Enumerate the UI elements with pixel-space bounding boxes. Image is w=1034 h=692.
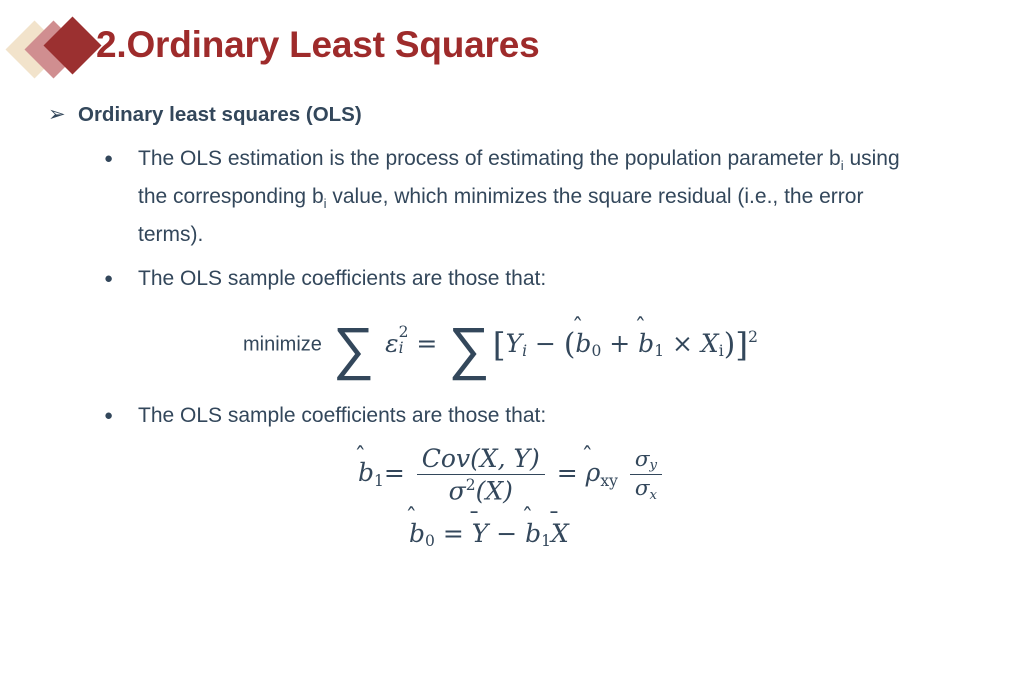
b1-index: 1 (374, 472, 384, 490)
bracket-open: [ (493, 325, 506, 364)
sigma-x-index: x (650, 488, 658, 503)
covariance-fraction: Cov(X, Y) σ2(X) (417, 444, 545, 506)
Y-symbol: Y (472, 519, 489, 548)
sigma-ratio-fraction: σy σx (630, 447, 662, 503)
ols-estimation-text: The OLS estimation is the process of est… (138, 140, 928, 254)
b1-index: 1 (654, 342, 664, 360)
epsilon-index: i (399, 341, 409, 357)
rho-symbol: ρ (586, 458, 601, 487)
Y-bar-group: ̄Y (472, 519, 489, 548)
variance-denominator: σ2(X) (417, 475, 545, 506)
rho-index: xy (600, 472, 618, 490)
level1-label: Ordinary least squares (OLS) (78, 100, 362, 130)
b-symbol: b (638, 329, 654, 358)
sigma-exponent: 2 (466, 476, 476, 494)
dot-bullet-icon: ● (104, 397, 138, 435)
X-symbol: X (551, 519, 569, 548)
sigma-y: σy (630, 447, 662, 476)
bullet-coefficients-intro: ● The OLS sample coefficients are those … (104, 397, 546, 435)
variance-argument: (X) (476, 477, 513, 506)
epsilon-symbol: ε (385, 329, 398, 358)
Y-index: i (522, 342, 527, 360)
b-symbol: b (525, 519, 541, 548)
paren-open: ( (564, 327, 576, 361)
times-sign: × (672, 329, 693, 358)
arrow-bullet-icon: ➢ (48, 100, 78, 130)
formula-b1-slope: ̂b1= Cov(X, Y) σ2(X) = ̂ρxy σy σx (358, 444, 666, 506)
equals-sign: = (443, 519, 464, 548)
b1-hat-group: ̂b (525, 519, 541, 548)
b1-hat-group: ̂b (358, 458, 374, 487)
bracket-exponent: 2 (748, 328, 758, 346)
minimize-intro-text: The OLS sample coefficients are those th… (138, 260, 546, 298)
sigma-symbol: σ (635, 447, 650, 472)
level1-bullet-ols: ➢ Ordinary least squares (OLS) (48, 100, 362, 130)
rho-hat-group: ̂ρ (586, 458, 601, 487)
equals-sign-2: = (557, 458, 578, 487)
b1-index: 1 (541, 532, 551, 550)
equals-sign-1: = (384, 458, 405, 487)
formula-b0-intercept: ̂b0 = ̄Y − ̂b1̄X (409, 519, 569, 550)
minus-sign: − (535, 329, 556, 358)
formula-minimize-sse: minimize ∑ ε2i = ∑[Yi − (̂b0 + ̂b1 × Xi)… (243, 325, 758, 367)
three-diamonds-logo (14, 21, 96, 79)
minus-sign: − (496, 519, 517, 548)
slide-title: 2.Ordinary Least Squares (96, 24, 540, 66)
sigma-symbol: σ (635, 476, 650, 501)
b-symbol: b (358, 458, 374, 487)
X-bar-group: ̄X (551, 519, 569, 548)
Y-symbol: Y (506, 329, 523, 358)
b-symbol: b (575, 329, 591, 358)
b1-hat-group: ̂b (638, 329, 654, 358)
bracket-close: ] (735, 325, 748, 364)
summation-sign-2: ∑ (445, 331, 492, 367)
bullet-minimize-intro: ● The OLS sample coefficients are those … (104, 260, 546, 298)
b0-index: 0 (591, 342, 601, 360)
dot-bullet-icon: ● (104, 260, 138, 298)
epsilon-indices: 2i (399, 325, 409, 357)
slide-body: ➢ Ordinary least squares (OLS) ● The OLS… (0, 92, 1034, 692)
dot-bullet-icon: ● (104, 140, 138, 178)
coefficients-intro-text: The OLS sample coefficients are those th… (138, 397, 546, 435)
b0-hat-group: ̂b (575, 329, 591, 358)
b0-hat-group: ̂b (409, 519, 425, 548)
plus-sign: + (609, 329, 630, 358)
covariance-numerator: Cov(X, Y) (417, 444, 545, 475)
b-symbol: b (409, 519, 425, 548)
sigma-x: σx (630, 475, 662, 503)
slide-header: 2.Ordinary Least Squares (0, 0, 1034, 92)
bullet-ols-estimation: ● The OLS estimation is the process of e… (104, 140, 928, 254)
summation-sign-1: ∑ (330, 331, 377, 367)
X-symbol: X (701, 329, 719, 358)
sigma-y-index: y (650, 458, 658, 473)
paren-close: ) (724, 327, 736, 361)
b0-index: 0 (425, 532, 435, 550)
equals-sign-1: = (416, 329, 437, 358)
sigma-symbol: σ (449, 477, 466, 506)
ols-estimation-part1: The OLS estimation is the process of est… (138, 147, 841, 170)
minimize-label: minimize (243, 333, 322, 355)
